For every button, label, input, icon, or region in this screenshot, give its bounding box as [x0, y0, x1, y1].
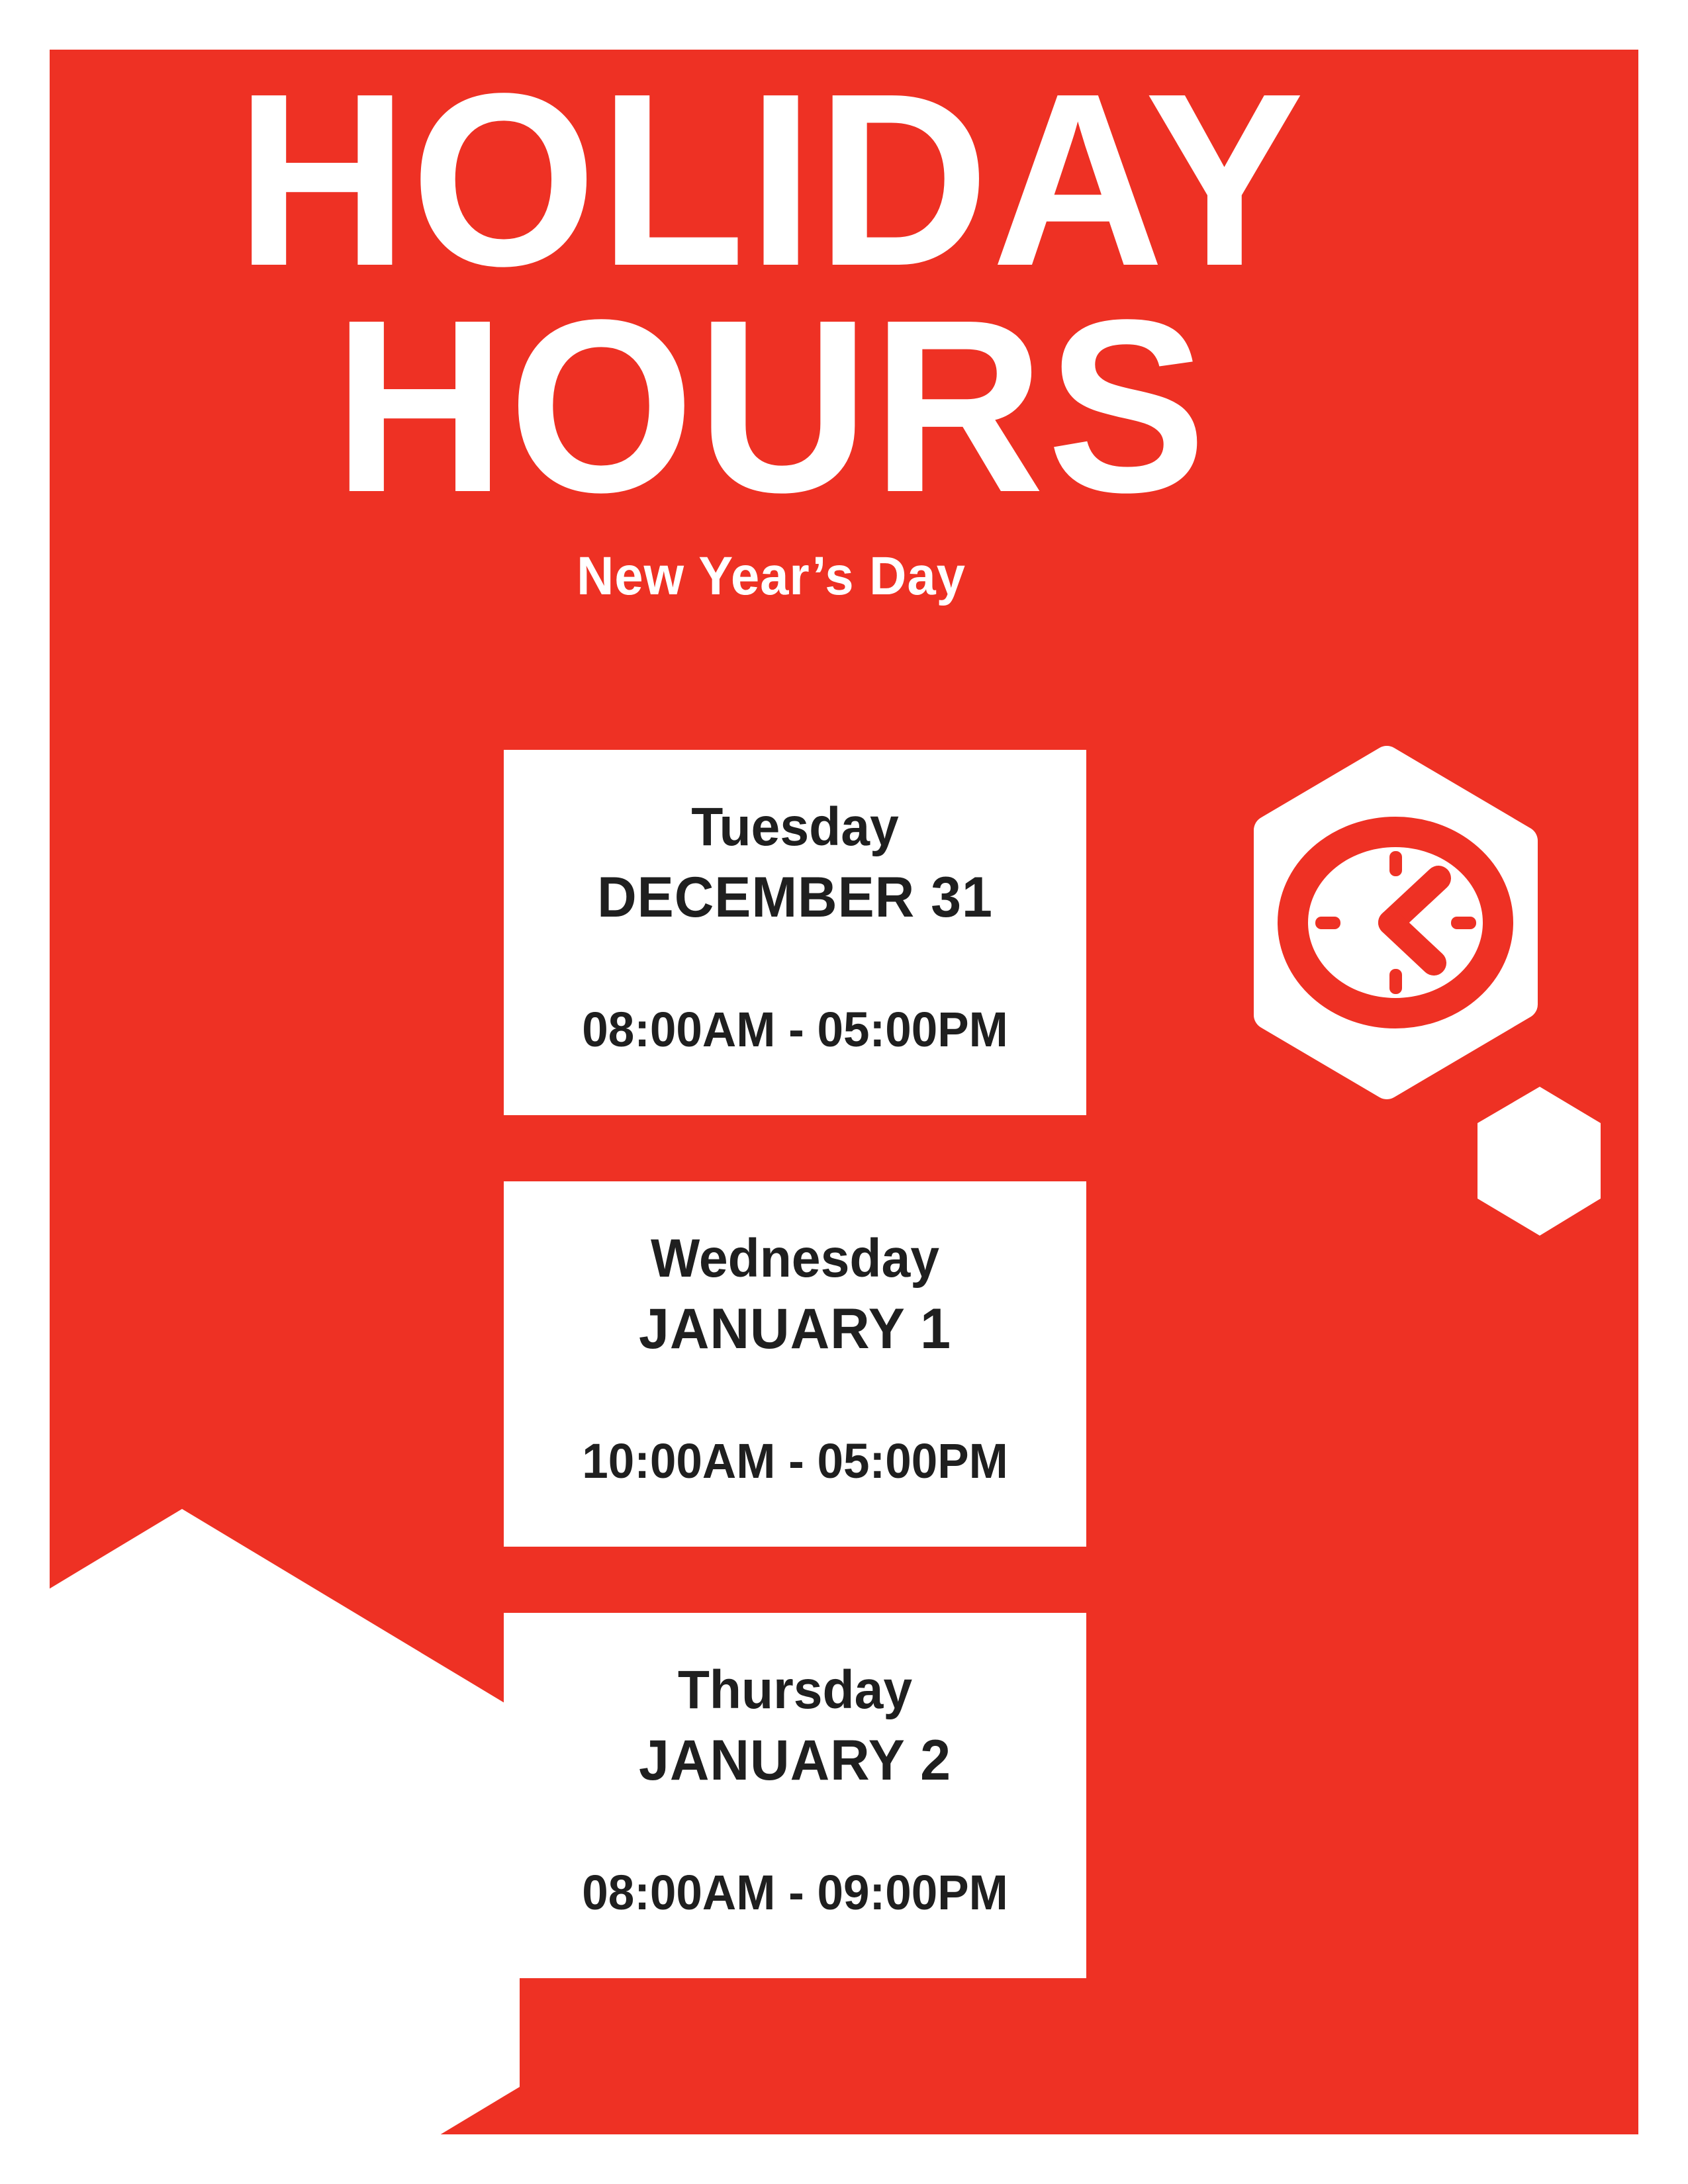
schedule-card: Thursday JANUARY 2 08:00AM - 09:00PM — [504, 1613, 1086, 1978]
hexagon-decoration-bottom-left — [50, 1509, 520, 2134]
holiday-hours-poster: HOLIDAY HOURS New Year’s Day — [0, 0, 1688, 2184]
schedule-date-label: JANUARY 2 — [541, 1731, 1049, 1790]
schedule-date-label: JANUARY 1 — [541, 1299, 1049, 1359]
schedule-card-list: Tuesday DECEMBER 31 08:00AM - 05:00PM We… — [504, 750, 1086, 1978]
clock-hexagon-badge — [1203, 698, 1601, 1248]
schedule-day-label: Wednesday — [541, 1230, 1049, 1287]
schedule-card: Wednesday JANUARY 1 10:00AM - 05:00PM — [504, 1181, 1086, 1547]
schedule-day-label: Thursday — [541, 1662, 1049, 1719]
schedule-date-label: DECEMBER 31 — [541, 868, 1049, 927]
schedule-hours-label: 08:00AM - 05:00PM — [541, 1004, 1049, 1056]
clock-icon — [1293, 832, 1498, 1013]
schedule-card: Tuesday DECEMBER 31 08:00AM - 05:00PM — [504, 750, 1086, 1115]
hexagon-accent — [1477, 1087, 1601, 1236]
schedule-day-label: Tuesday — [541, 799, 1049, 856]
schedule-hours-label: 10:00AM - 05:00PM — [541, 1435, 1049, 1487]
schedule-hours-label: 08:00AM - 09:00PM — [541, 1867, 1049, 1919]
